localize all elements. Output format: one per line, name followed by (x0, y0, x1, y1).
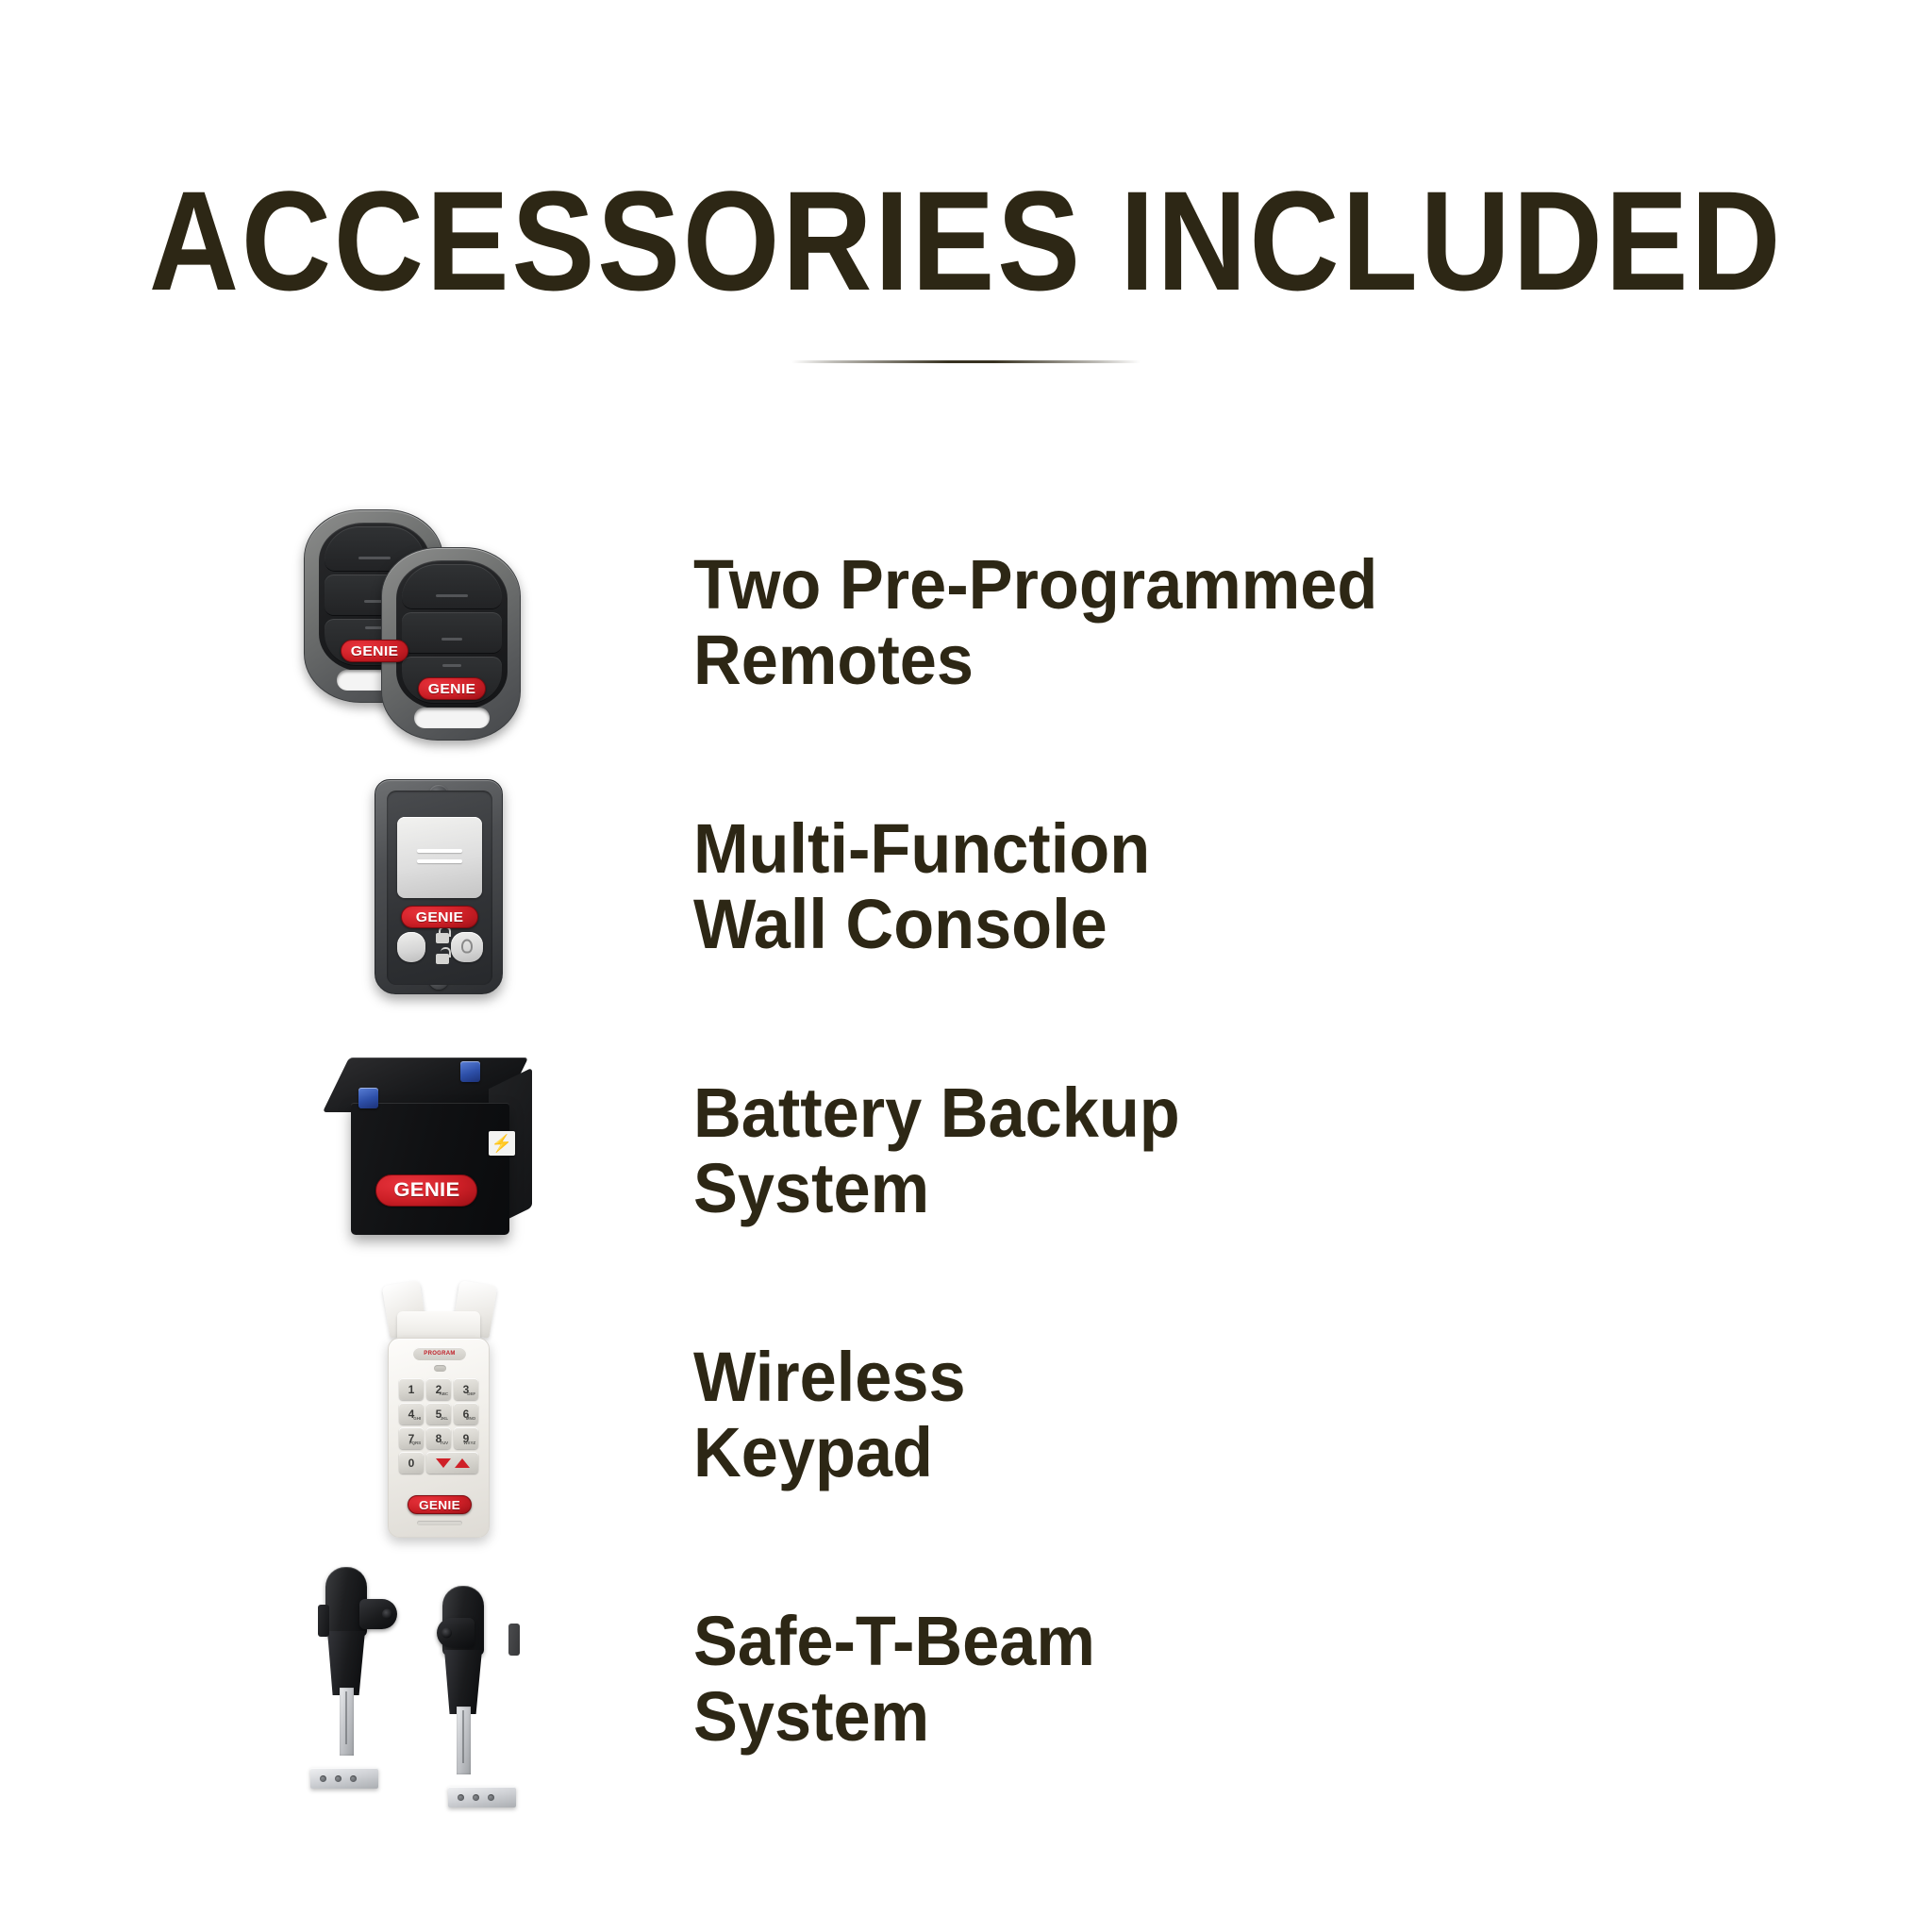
keypad-key-5: 5 JKL (426, 1403, 451, 1424)
key-letters: GHI (413, 1416, 421, 1421)
wireless-keypad-image: PROGRAM 1 2 ABC (241, 1283, 637, 1547)
genie-wordmark: GENIE (419, 1499, 460, 1511)
sensor-post (340, 1688, 354, 1756)
list-item: ⚡ GENIE Battery Backup System (0, 1019, 1932, 1283)
keypad-key-1: 1 (399, 1378, 424, 1400)
page-title: ACCESSORIES INCLUDED (116, 170, 1816, 311)
two-remotes-image: GENIE GENIE (241, 491, 637, 755)
keypad-key-2: 2 ABC (426, 1378, 451, 1400)
accessory-label-battery: Battery Backup System (693, 1075, 1180, 1226)
battery-warning-label: ⚡ (489, 1131, 515, 1156)
battery-unit: ⚡ GENIE (330, 1050, 547, 1253)
sensor-lens (437, 1618, 475, 1648)
key-letters: ABC (440, 1391, 448, 1396)
battery-terminal-negative (358, 1088, 378, 1108)
sensor-post (457, 1707, 471, 1774)
battery-terminal-positive (460, 1061, 480, 1082)
program-button: PROGRAM (413, 1347, 466, 1360)
keypad-key-3: 3 DEF (454, 1378, 478, 1400)
key-letters: JKL (441, 1416, 448, 1421)
sensor-neck (327, 1631, 365, 1695)
accessories-infographic: ACCESSORIES INCLUDED GENIE (0, 0, 1932, 1932)
sensor-wire-clip (318, 1605, 329, 1637)
arrow-down-icon (436, 1458, 451, 1468)
genie-wordmark: GENIE (428, 682, 476, 696)
accessory-label-keypad: Wireless Keypad (693, 1340, 966, 1491)
list-item: GENIE Multi-Function Wall Console (0, 755, 1932, 1019)
door-open-close-button (397, 817, 482, 898)
list-item: PROGRAM 1 2 ABC (0, 1283, 1932, 1547)
accessory-label-wall-console: Multi-Function Wall Console (693, 811, 1150, 962)
battery-backup-image: ⚡ GENIE (241, 1019, 637, 1283)
genie-logo: GENIE (401, 906, 478, 928)
safe-t-beam-sensor-left (314, 1567, 405, 1789)
keypad-body: PROGRAM 1 2 ABC (388, 1338, 490, 1538)
key-number: 0 (408, 1457, 415, 1469)
genie-logo: GENIE (408, 1495, 472, 1514)
lightning-bolt-icon: ⚡ (491, 1135, 512, 1152)
keypad-key-0: 0 (399, 1452, 424, 1474)
key-number: 1 (408, 1384, 415, 1395)
battery-front-face (351, 1103, 509, 1235)
mounting-bracket (310, 1768, 378, 1789)
bracket-hole (320, 1775, 326, 1782)
lock-closed-icon (436, 933, 449, 943)
bracket-hole (488, 1794, 494, 1801)
keypad-key-9: 9 WXYZ (454, 1427, 478, 1449)
lock-button (397, 932, 425, 962)
safe-t-beam-group (307, 1561, 571, 1797)
bracket-hole (458, 1794, 464, 1801)
list-item: Safe-T-Beam System (0, 1547, 1932, 1811)
genie-wordmark: GENIE (351, 644, 399, 658)
light-button (451, 932, 483, 962)
keypad-key-grid: 1 2 ABC 3 DEF (399, 1378, 480, 1474)
sensor-neck (444, 1650, 482, 1714)
keypad-unit: PROGRAM 1 2 ABC (373, 1283, 505, 1547)
keypad-key-7: 7 PQRS (399, 1427, 424, 1449)
remote-button-2 (402, 612, 502, 654)
genie-wordmark: GENIE (393, 1180, 459, 1200)
title-divider (791, 360, 1141, 363)
keypad-key-4: 4 GHI (399, 1403, 424, 1424)
key-letters: PQRS (409, 1441, 421, 1445)
keypad-vent (417, 1521, 462, 1525)
key-letters: TUV (440, 1441, 448, 1445)
genie-logo: GENIE (375, 1174, 477, 1207)
bracket-hole (473, 1794, 479, 1801)
safe-t-beam-sensor-right (431, 1586, 522, 1807)
genie-logo: GENIE (341, 640, 408, 662)
light-bulb-icon (461, 939, 473, 953)
wall-console-unit: GENIE (375, 779, 503, 994)
accessories-list: GENIE GENIE (0, 491, 1932, 1811)
keypad-key-6: 6 MNO (454, 1403, 478, 1424)
console-faceplate: GENIE (387, 791, 492, 985)
bracket-hole (335, 1775, 341, 1782)
keypad-key-8: 8 TUV (426, 1427, 451, 1449)
key-letters: MNO (466, 1416, 475, 1421)
accessory-label-remotes: Two Pre-Programmed Remotes (693, 547, 1377, 698)
sensor-lens (359, 1599, 397, 1629)
arrow-up-icon (455, 1458, 470, 1468)
remote-keyring-slot (414, 708, 490, 728)
wall-console-image: GENIE (241, 755, 637, 1019)
remote-button-1 (402, 564, 502, 609)
accessory-label-safe-t-beam: Safe-T-Beam System (693, 1604, 1095, 1755)
program-button-label: PROGRAM (424, 1351, 455, 1357)
list-item: GENIE GENIE (0, 491, 1932, 755)
remotes-group: GENIE GENIE (302, 509, 575, 736)
bracket-hole (350, 1775, 357, 1782)
keypad-arrow-key (426, 1452, 478, 1474)
header: ACCESSORIES INCLUDED (0, 170, 1932, 363)
sensor-wire-clip (508, 1624, 520, 1656)
mounting-bracket (448, 1787, 516, 1807)
key-letters: DEF (467, 1391, 475, 1396)
genie-wordmark: GENIE (416, 910, 464, 924)
genie-logo: GENIE (418, 677, 486, 700)
safe-t-beam-image (241, 1547, 637, 1811)
key-letters: WXYZ (463, 1441, 475, 1445)
lock-open-icon (436, 954, 449, 964)
status-led (434, 1365, 446, 1372)
